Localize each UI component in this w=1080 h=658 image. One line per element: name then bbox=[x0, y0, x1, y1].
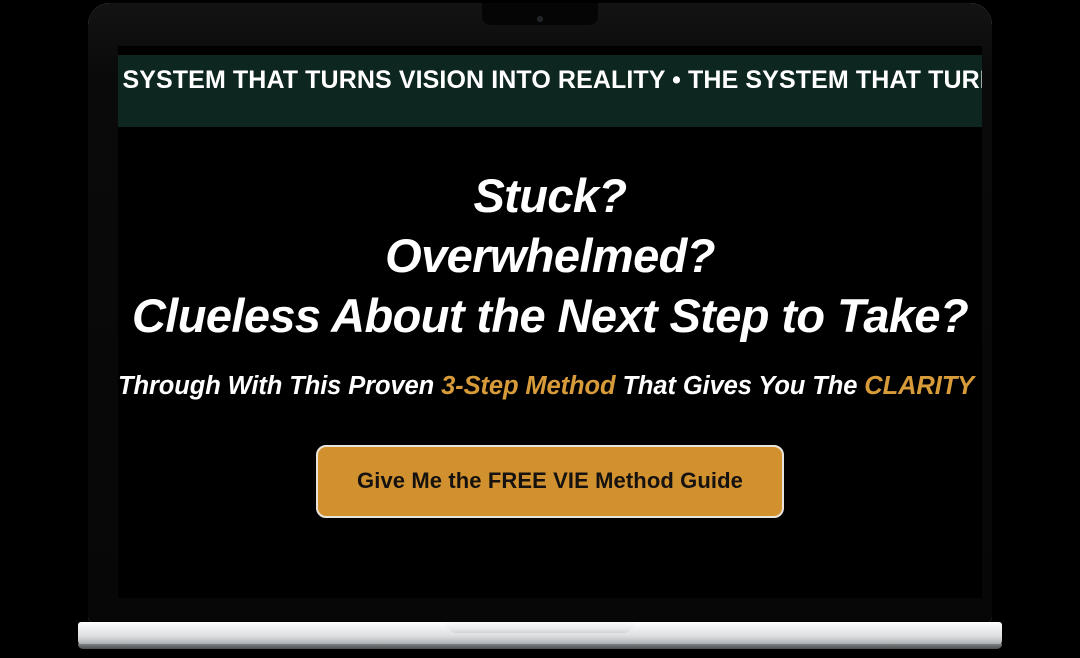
page-title: Stuck? Overwhelmed? Clueless About the N… bbox=[118, 166, 982, 346]
laptop-bezel: REALITY • THE SYSTEM THAT TURNS VISION I… bbox=[88, 3, 992, 623]
laptop-base-lip bbox=[446, 622, 634, 633]
laptop-device: REALITY • THE SYSTEM THAT TURNS VISION I… bbox=[78, 0, 1002, 658]
subheadline-part-3: You've bbox=[974, 372, 982, 400]
hero-section: Stuck? Overwhelmed? Clueless About the N… bbox=[118, 166, 982, 518]
free-guide-cta-button[interactable]: Give Me the FREE VIE Method Guide bbox=[316, 445, 784, 518]
screen-content: REALITY • THE SYSTEM THAT TURNS VISION I… bbox=[118, 46, 982, 598]
subheadline-part-2: That Gives You The bbox=[615, 372, 864, 400]
headline-line-2: Overwhelmed? bbox=[118, 226, 982, 286]
laptop-base bbox=[78, 622, 1002, 649]
screenshot-stage: REALITY • THE SYSTEM THAT TURNS VISION I… bbox=[0, 0, 1080, 658]
marquee-track: REALITY • THE SYSTEM THAT TURNS VISION I… bbox=[118, 55, 982, 127]
subheadline-accent-method: 3-Step Method bbox=[441, 372, 615, 400]
marquee-banner: REALITY • THE SYSTEM THAT TURNS VISION I… bbox=[118, 55, 982, 127]
laptop-lid: REALITY • THE SYSTEM THAT TURNS VISION I… bbox=[88, 3, 992, 623]
marquee-text: REALITY • THE SYSTEM THAT TURNS VISION I… bbox=[118, 55, 982, 105]
camera-dot-icon bbox=[537, 16, 543, 22]
headline-line-3: Clueless About the Next Step to Take? bbox=[118, 286, 982, 346]
subheadline-accent-clarity: CLARITY bbox=[864, 372, 973, 400]
subheadline-part-1: Through With This Proven bbox=[118, 372, 441, 400]
laptop-base-foot bbox=[78, 644, 1002, 649]
subheadline: Through With This Proven 3-Step Method T… bbox=[118, 369, 982, 403]
cta-container: Give Me the FREE VIE Method Guide bbox=[118, 445, 982, 518]
headline-line-1: Stuck? bbox=[118, 166, 982, 226]
